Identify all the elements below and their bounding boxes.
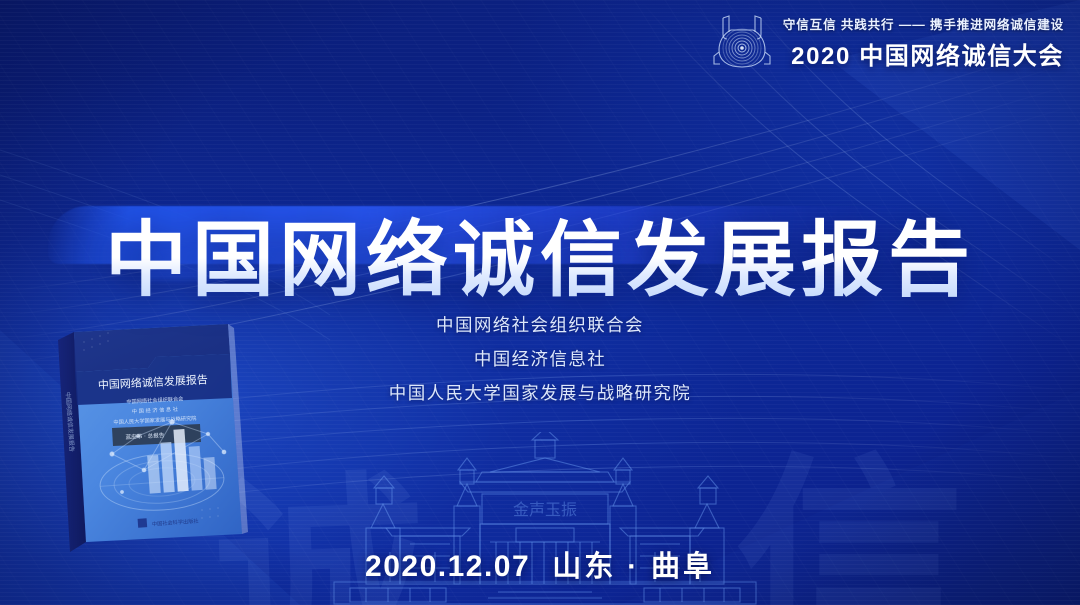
conference-title: 2020 中国网络诚信大会: [791, 36, 1064, 71]
event-date: 2020.12.07: [365, 550, 530, 584]
svg-text:金声玉振: 金声玉振: [513, 500, 577, 519]
organizer-line: 中国经济信息社: [474, 346, 606, 371]
conference-header-text: 守信互信 共践共行 —— 携手推进网络诚信建设 2020 中国网络诚信大会: [783, 14, 1064, 71]
organizer-line: 中国人民大学国家发展与战略研究院: [389, 380, 691, 405]
conference-tagline: 守信互信 共践共行 —— 携手推进网络诚信建设: [783, 14, 1064, 33]
poster-canvas: 诚 信: [0, 0, 1080, 605]
organizer-line: 中国网络社会组织联合会: [436, 312, 644, 337]
conference-mascot-robot-icon: [713, 12, 771, 72]
conference-header: 守信互信 共践共行 —— 携手推进网络诚信建设 2020 中国网络诚信大会: [713, 12, 1064, 72]
event-location: 山东 · 曲阜: [552, 543, 715, 585]
event-footer: 2020.12.07 山东 · 曲阜: [0, 543, 1080, 585]
page-title: 中国网络诚信发展报告: [0, 215, 1080, 307]
organizer-list: 中国网络社会组织联合会 中国经济信息社 中国人民大学国家发展与战略研究院: [0, 312, 1080, 405]
